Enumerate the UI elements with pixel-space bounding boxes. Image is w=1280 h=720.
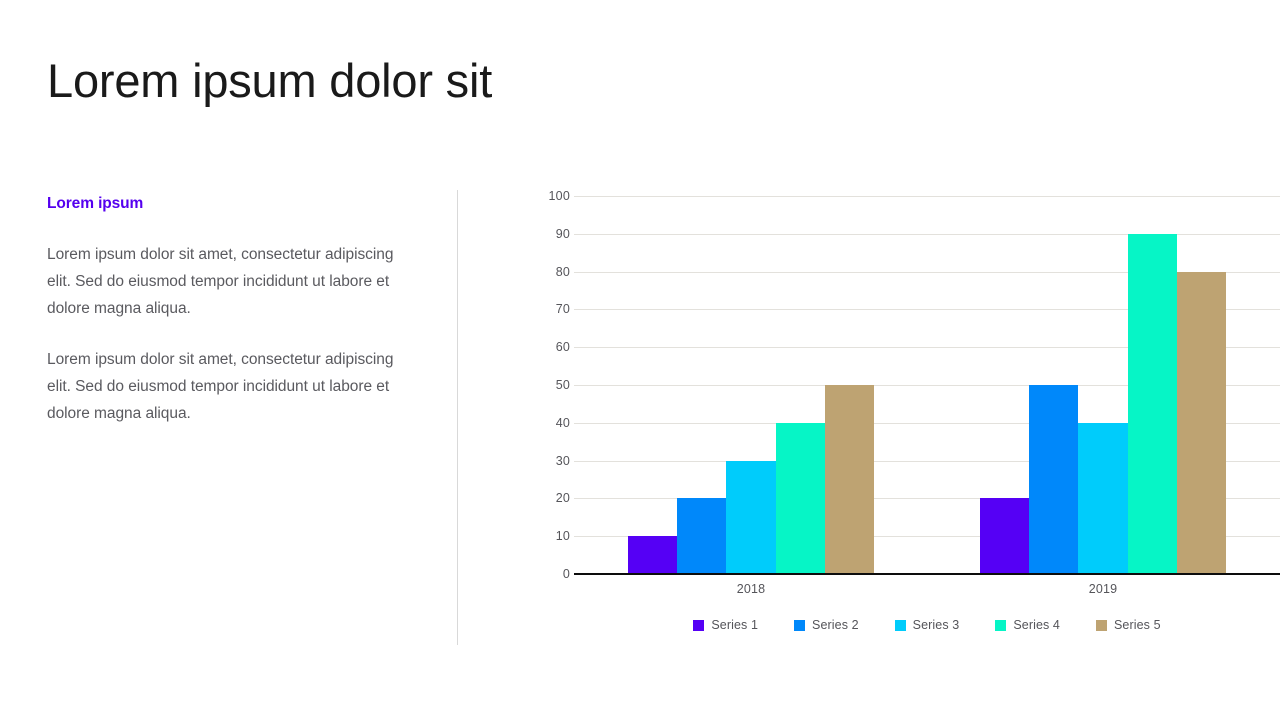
x-tick-label: 2018 [737, 582, 766, 596]
bar [980, 498, 1029, 574]
legend-swatch-icon [1096, 620, 1107, 631]
plot-wrapper: 0102030405060708090100 20182019 Series 1… [526, 196, 1232, 574]
y-tick-label: 30 [526, 454, 570, 468]
panel-divider [457, 190, 458, 645]
y-tick-label: 80 [526, 265, 570, 279]
bar [628, 536, 677, 574]
y-tick-label: 50 [526, 378, 570, 392]
legend-label: Series 1 [711, 618, 758, 632]
y-tick-label: 10 [526, 529, 570, 543]
y-tick-label: 0 [526, 567, 570, 581]
slide-root: Lorem ipsum dolor sit Lorem ipsum Lorem … [0, 0, 1280, 720]
bar [1078, 423, 1127, 574]
bars-layer [574, 196, 1280, 574]
y-tick-label: 70 [526, 302, 570, 316]
bar [1029, 385, 1078, 574]
y-tick-label: 40 [526, 416, 570, 430]
legend-item[interactable]: Series 5 [1096, 618, 1161, 632]
y-tick-label: 100 [526, 189, 570, 203]
x-axis-labels: 20182019 [574, 578, 1280, 602]
legend-label: Series 5 [1114, 618, 1161, 632]
page-title: Lorem ipsum dolor sit [47, 52, 492, 111]
legend-item[interactable]: Series 4 [995, 618, 1060, 632]
legend-item[interactable]: Series 1 [693, 618, 758, 632]
x-tick-label: 2019 [1089, 582, 1118, 596]
legend-item[interactable]: Series 3 [895, 618, 960, 632]
legend-item[interactable]: Series 2 [794, 618, 859, 632]
bar [1128, 234, 1177, 574]
bar-chart: 0102030405060708090100 20182019 Series 1… [478, 196, 1238, 646]
legend-swatch-icon [693, 620, 704, 631]
legend-label: Series 3 [913, 618, 960, 632]
plot-area [574, 196, 1280, 574]
bar [825, 385, 874, 574]
bar [776, 423, 825, 574]
y-tick-label: 20 [526, 491, 570, 505]
legend-swatch-icon [794, 620, 805, 631]
y-tick-label: 60 [526, 340, 570, 354]
panel-paragraph-2: Lorem ipsum dolor sit amet, consectetur … [47, 346, 419, 427]
legend-label: Series 2 [812, 618, 859, 632]
panel-heading: Lorem ipsum [47, 195, 419, 213]
x-axis-line [574, 573, 1280, 575]
legend-label: Series 4 [1013, 618, 1060, 632]
legend-swatch-icon [895, 620, 906, 631]
chart-legend: Series 1Series 2Series 3Series 4Series 5 [574, 614, 1280, 636]
y-axis: 0102030405060708090100 [526, 196, 570, 574]
bar [1177, 272, 1226, 574]
bar [726, 461, 775, 574]
panel-paragraph-1: Lorem ipsum dolor sit amet, consectetur … [47, 241, 419, 322]
legend-swatch-icon [995, 620, 1006, 631]
y-tick-label: 90 [526, 227, 570, 241]
text-panel: Lorem ipsum Lorem ipsum dolor sit amet, … [47, 195, 419, 427]
bar [677, 498, 726, 574]
